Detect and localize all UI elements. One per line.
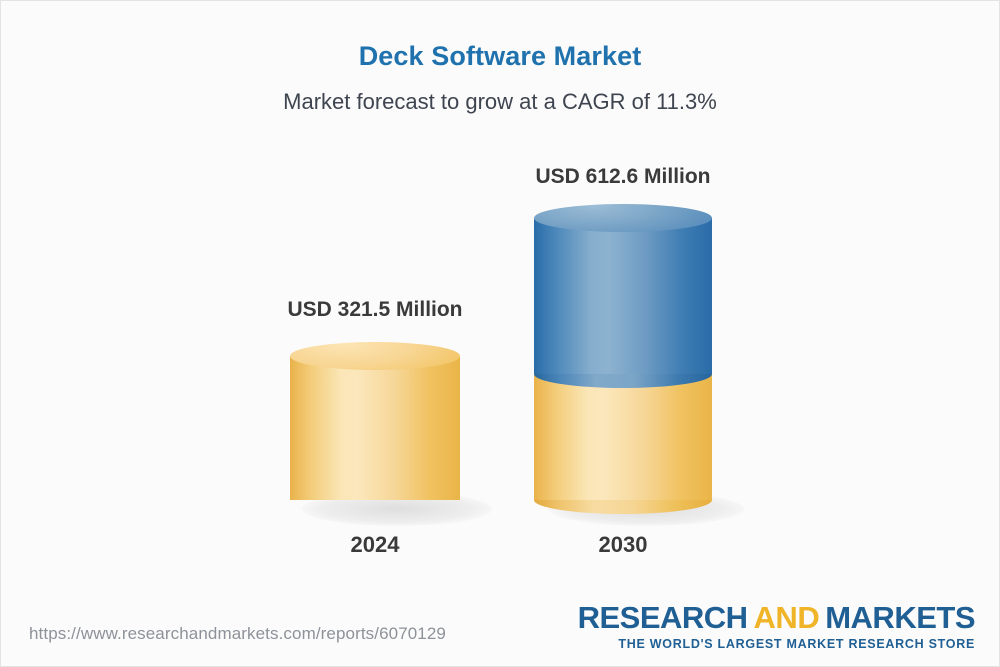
bar-2024-body [290,356,460,500]
bar-2024[interactable] [290,342,460,514]
value-label-2030: USD 612.6 Million [508,165,738,189]
logo-word-research: RESEARCH [578,600,748,635]
bar-2024-top-cap [290,342,460,370]
logo-word-and: AND [754,600,820,635]
value-label-2024: USD 321.5 Million [260,298,490,322]
logo-word-markets: MARKETS [825,600,975,635]
bar-2030-top-cap [534,204,712,232]
bar-2030-lower-segment [534,374,712,500]
category-label-2030: 2030 [508,532,738,558]
chart-card: Deck Software Market Market forecast to … [0,0,1000,667]
plot-area: USD 321.5 Million USD 612.6 Million 2024… [1,1,1000,601]
bar-2030[interactable] [534,204,712,514]
source-url[interactable]: https://www.researchandmarkets.com/repor… [29,624,446,644]
logo-wordmark: RESEARCHANDMARKETS [578,602,975,633]
category-label-2024: 2024 [260,532,490,558]
logo-tagline: THE WORLD'S LARGEST MARKET RESEARCH STOR… [578,638,975,651]
bar-2030-upper-segment [534,218,712,374]
research-and-markets-logo[interactable]: RESEARCHANDMARKETS THE WORLD'S LARGEST M… [578,602,975,651]
